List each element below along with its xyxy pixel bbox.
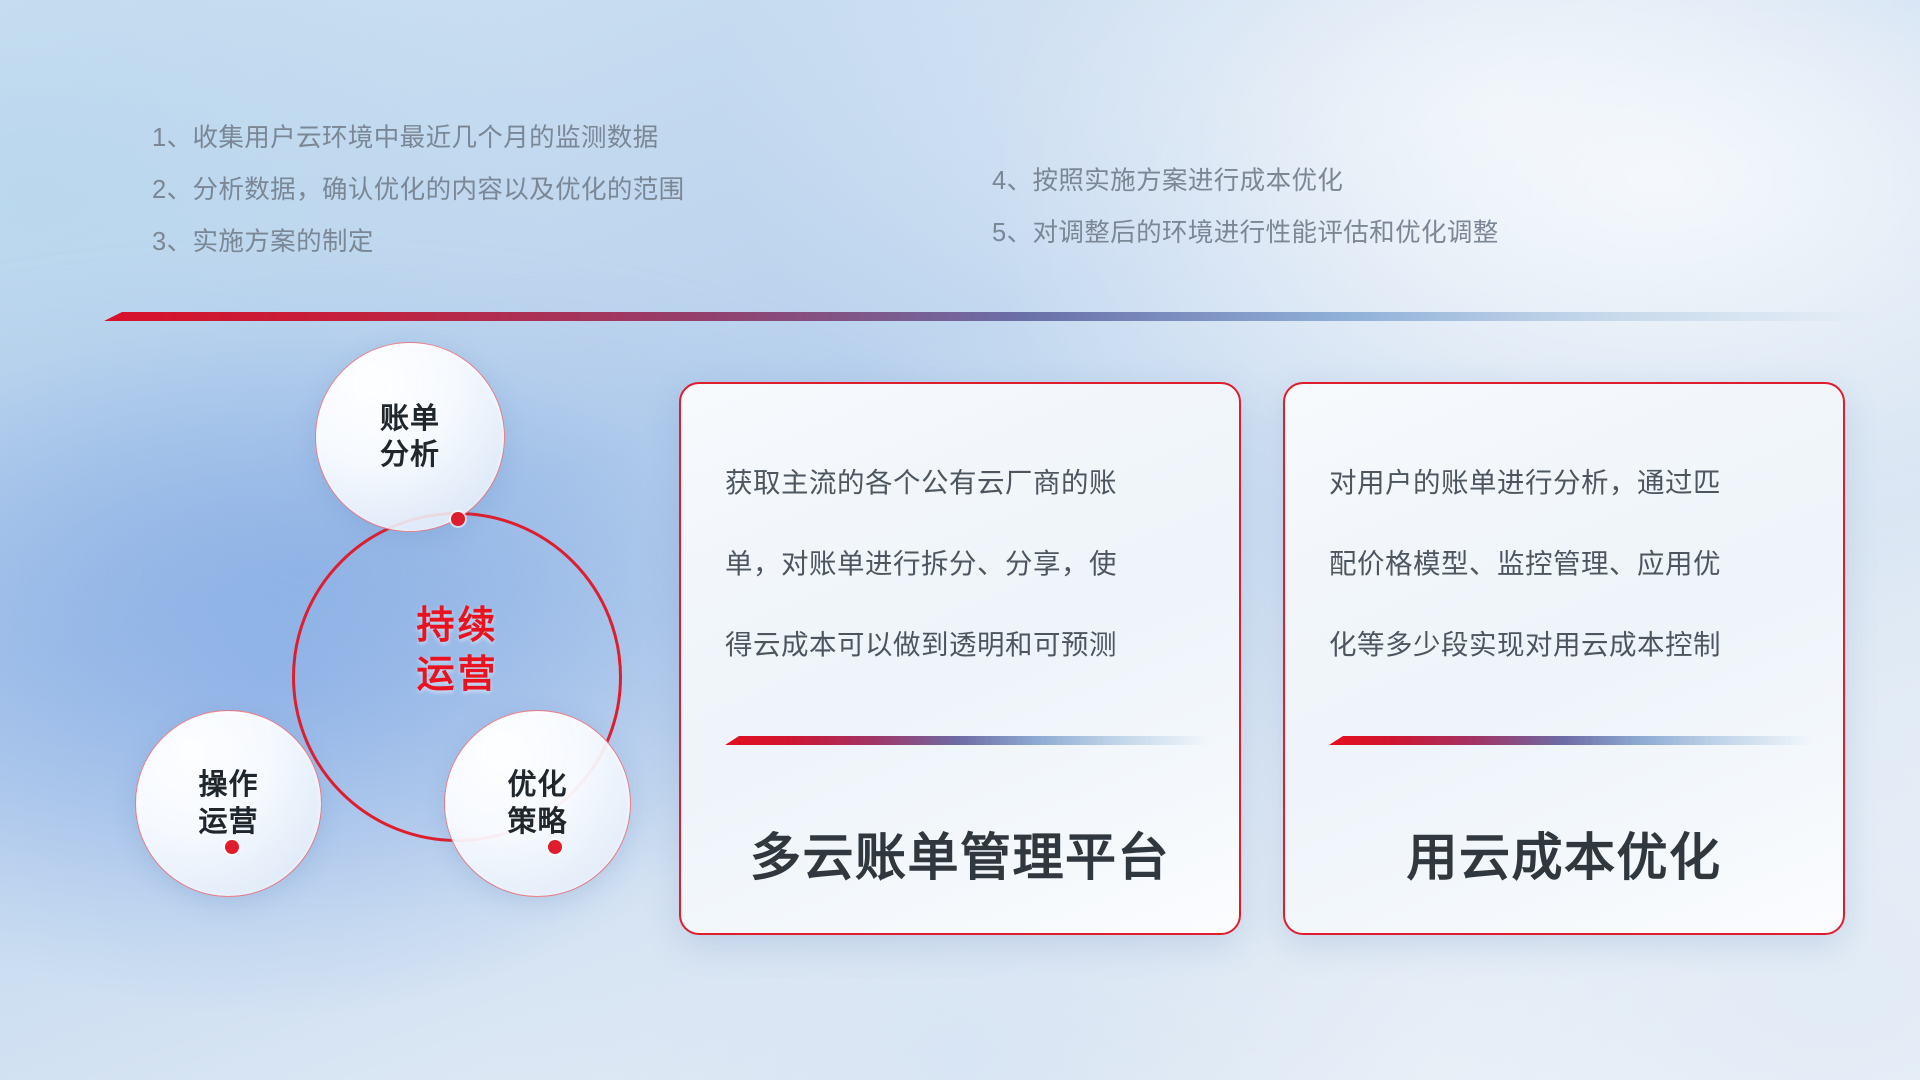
diagram-node-label: 优化 策略: [507, 767, 567, 840]
card-description-line: 获取主流的各个公有云厂商的账: [725, 442, 1205, 523]
step-item: 1、收集用户云环境中最近几个月的监测数据: [152, 112, 685, 164]
connector-dot-icon: [225, 840, 239, 854]
diagram-node-billing[interactable]: 账单 分析: [315, 342, 505, 532]
divider-gradient-bar: [1329, 736, 1813, 745]
diagram-center-label: 持续 运营: [335, 602, 580, 701]
diagram-node-label: 操作 运营: [198, 767, 258, 840]
card-title: 多云账单管理平台: [681, 816, 1239, 890]
diagram-node-strategy[interactable]: 优化 策略: [444, 710, 631, 897]
operations-venn-diagram: 持续 运营 账单 分析 操作 运营 优化 策略: [100, 352, 660, 952]
card-description: 对用户的账单进行分析，通过匹 配价格模型、监控管理、应用优 化等多少段实现对用云…: [1329, 442, 1809, 685]
step-item: 2、分析数据，确认优化的内容以及优化的范围: [152, 164, 685, 216]
card-description: 获取主流的各个公有云厂商的账 单，对账单进行拆分、分享，使 得云成本可以做到透明…: [725, 442, 1205, 685]
steps-right-column: 4、按照实施方案进行成本优化 5、对调整后的环境进行性能评估和优化调整: [992, 155, 1499, 259]
card-description-line: 对用户的账单进行分析，通过匹: [1329, 442, 1809, 523]
divider-gradient-bar: [725, 736, 1209, 745]
slide-canvas: 1、收集用户云环境中最近几个月的监测数据 2、分析数据，确认优化的内容以及优化的…: [0, 0, 1920, 1080]
card-divider: [725, 736, 1209, 745]
step-item: 3、实施方案的制定: [152, 216, 685, 268]
feature-card-multi-cloud-billing[interactable]: 获取主流的各个公有云厂商的账 单，对账单进行拆分、分享，使 得云成本可以做到透明…: [679, 382, 1241, 935]
diagram-node-ops[interactable]: 操作 运营: [135, 710, 322, 897]
step-item: 5、对调整后的环境进行性能评估和优化调整: [992, 207, 1499, 259]
steps-left-column: 1、收集用户云环境中最近几个月的监测数据 2、分析数据，确认优化的内容以及优化的…: [152, 112, 685, 268]
card-description-line: 配价格模型、监控管理、应用优: [1329, 523, 1809, 604]
step-item: 4、按照实施方案进行成本优化: [992, 155, 1499, 207]
card-description-line: 单，对账单进行拆分、分享，使: [725, 523, 1205, 604]
feature-card-cloud-cost-optimization[interactable]: 对用户的账单进行分析，通过匹 配价格模型、监控管理、应用优 化等多少段实现对用云…: [1283, 382, 1845, 935]
card-description-line: 化等多少段实现对用云成本控制: [1329, 604, 1809, 685]
card-title: 用云成本优化: [1285, 816, 1843, 890]
card-divider: [1329, 736, 1813, 745]
card-description-line: 得云成本可以做到透明和可预测: [725, 604, 1205, 685]
section-divider: [104, 312, 1876, 321]
connector-dot-icon: [451, 512, 465, 526]
connector-dot-icon: [548, 840, 562, 854]
diagram-node-label: 账单 分析: [380, 401, 440, 474]
divider-gradient-bar: [104, 312, 1876, 321]
